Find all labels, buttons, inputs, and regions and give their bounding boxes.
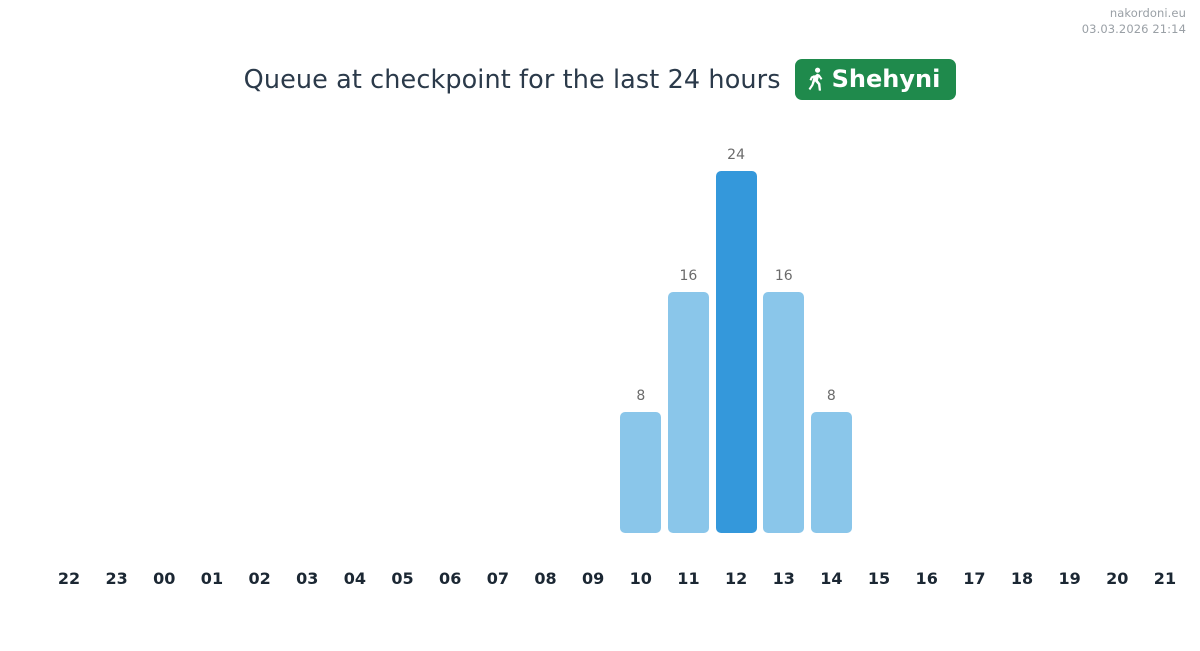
- bar-value-label-13: 16: [754, 269, 814, 283]
- x-tick-12: 12: [725, 570, 747, 588]
- bar-value-label-14: 8: [801, 389, 861, 403]
- x-tick-11: 11: [677, 570, 699, 588]
- bar-hour-11[interactable]: [668, 292, 709, 533]
- x-tick-16: 16: [916, 570, 938, 588]
- x-tick-08: 08: [534, 570, 556, 588]
- x-tick-13: 13: [773, 570, 795, 588]
- x-tick-00: 00: [153, 570, 175, 588]
- bar-value-label-12: 24: [706, 148, 766, 162]
- bar-chart-plot-area: 81624168: [0, 0, 1200, 651]
- x-tick-10: 10: [630, 570, 652, 588]
- x-tick-21: 21: [1154, 570, 1176, 588]
- x-tick-07: 07: [487, 570, 509, 588]
- bar-hour-14[interactable]: [811, 412, 852, 533]
- x-tick-17: 17: [963, 570, 985, 588]
- x-tick-09: 09: [582, 570, 604, 588]
- x-tick-15: 15: [868, 570, 890, 588]
- x-tick-14: 14: [820, 570, 842, 588]
- bar-value-label-11: 16: [658, 269, 718, 283]
- x-tick-20: 20: [1106, 570, 1128, 588]
- x-tick-01: 01: [201, 570, 223, 588]
- x-tick-23: 23: [106, 570, 128, 588]
- x-tick-06: 06: [439, 570, 461, 588]
- bar-hour-13[interactable]: [763, 292, 804, 533]
- x-tick-19: 19: [1059, 570, 1081, 588]
- x-tick-02: 02: [248, 570, 270, 588]
- bar-hour-10[interactable]: [620, 412, 661, 533]
- bar-hour-12[interactable]: [716, 171, 757, 533]
- x-tick-05: 05: [391, 570, 413, 588]
- x-tick-22: 22: [58, 570, 80, 588]
- x-tick-04: 04: [344, 570, 366, 588]
- x-axis: 2223000102030405060708091011121314151617…: [0, 570, 1200, 596]
- x-tick-03: 03: [296, 570, 318, 588]
- bar-value-label-10: 8: [611, 389, 671, 403]
- x-tick-18: 18: [1011, 570, 1033, 588]
